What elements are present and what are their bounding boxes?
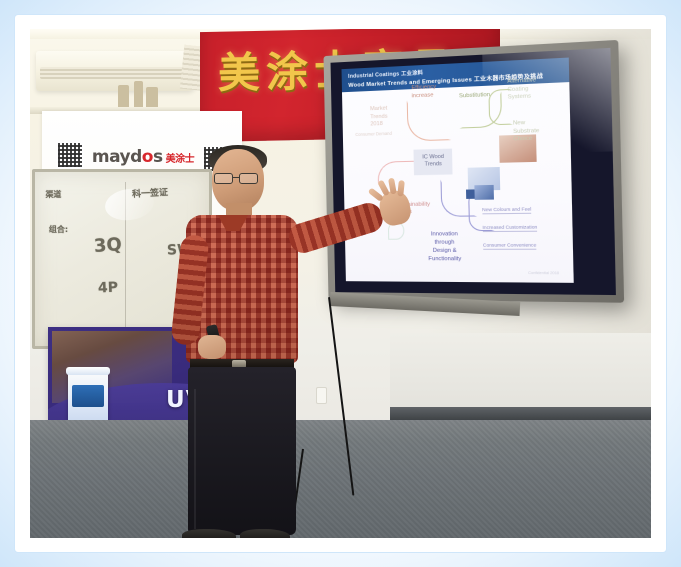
slide-branch-innovation: Innovation through Design & Functionalit…	[428, 231, 462, 263]
tv-screen: Industrial Coatings 工业涂料 Wood Market Tre…	[331, 48, 616, 295]
paint-can-lid	[66, 367, 110, 375]
shelf-object-1	[118, 85, 129, 107]
shelf-object-3	[146, 87, 158, 107]
presenter-shoe-right	[240, 529, 290, 538]
paint-can-product	[68, 371, 108, 423]
whiteboard-note-5: 渠道	[45, 189, 61, 200]
wall-lower-right	[390, 333, 651, 407]
slide-branch-market-trends: Market Trends 2018	[370, 105, 388, 129]
qr-code-icon-left	[56, 141, 84, 169]
slide-footer-note: Confidential 2018	[528, 271, 559, 275]
presenter-trousers	[188, 367, 296, 535]
slide-subitem-convenience: Consumer Convenience	[483, 242, 537, 249]
slide-branch-substitution: Substitution	[459, 92, 490, 101]
presenter-glasses	[214, 173, 262, 184]
presentation-photo: 美涂士家具 maydos美涂士 MAYDOS 科一签证3QSWO4P组合:渠道	[30, 29, 651, 538]
page-root: 美涂士家具 maydos美涂士 MAYDOS 科一签证3QSWO4P组合:渠道	[0, 0, 681, 567]
trouser-seam	[194, 389, 196, 529]
glasses-lens-left	[214, 173, 233, 184]
slide-center-node: IC Wood Trends	[414, 148, 453, 175]
slide-branch-substrate: New Substrate Choice	[513, 119, 540, 145]
slide-subitem-colours: New Colours and Feel	[482, 206, 531, 214]
slide-consumer-demand-note: Consumer Demand	[355, 131, 392, 137]
slide-image-tile-b	[475, 185, 495, 200]
slide-branch-alternative: Alternative Coating Systems	[507, 77, 536, 103]
whiteboard-note-4: 组合:	[49, 224, 68, 235]
presentation-slide: Industrial Coatings 工业涂料 Wood Market Tre…	[341, 57, 574, 282]
glasses-lens-right	[239, 173, 258, 184]
finger-4	[397, 180, 405, 197]
presenter-left-hand	[198, 335, 226, 359]
baseboard	[390, 407, 651, 420]
slide-image-tile-c	[466, 189, 475, 198]
whiteboard-note-1: 3Q	[93, 234, 122, 257]
presenter	[140, 149, 360, 538]
whiteboard-note-3: 4P	[97, 280, 118, 297]
paint-can-label	[72, 385, 104, 407]
connector-efficiency	[407, 98, 451, 141]
presenter-shoe-left	[182, 529, 236, 538]
wall-mounted-tv: Industrial Coatings 工业涂料 Wood Market Tre…	[324, 40, 625, 303]
slide-branch-efficiency: Efficiency increase	[411, 84, 436, 101]
air-conditioner	[36, 51, 196, 91]
slide-subitem-customization: Increased Customization	[482, 224, 537, 232]
ac-vents	[40, 67, 190, 79]
shelf-object-2	[134, 81, 143, 107]
maydos-word-part1: mayd	[92, 147, 142, 167]
